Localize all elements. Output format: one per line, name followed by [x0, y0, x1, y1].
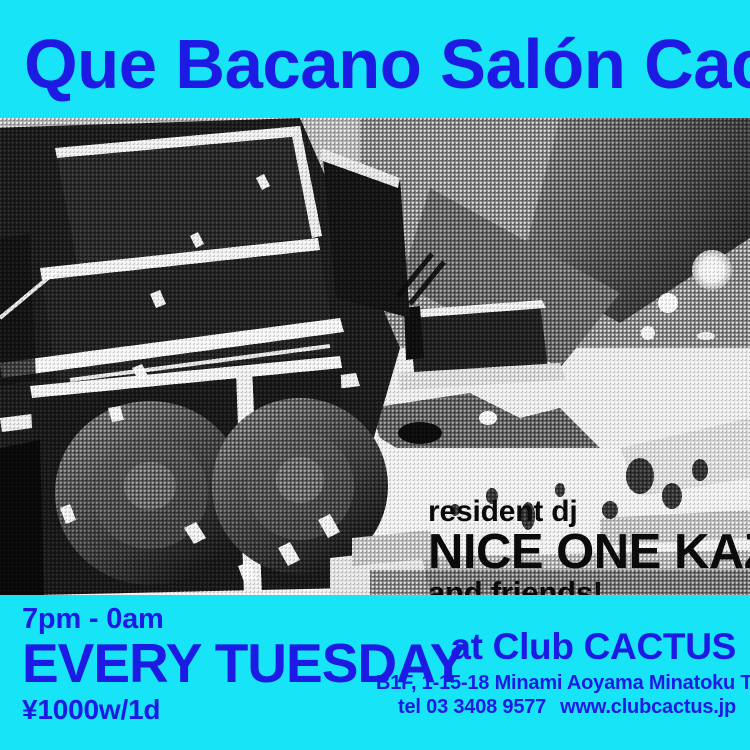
resident-dj-label: resident dj	[428, 496, 750, 528]
page-title: Que Bacano Salón Cactus	[24, 27, 719, 101]
venue-telephone: tel 03 3408 9577	[398, 696, 546, 718]
dj-name: NICE ONE KAZ	[428, 526, 750, 578]
dj-lineup-block: resident dj NICE ONE KAZ and friends!	[428, 496, 750, 595]
venue-name: at Club CACTUS	[376, 627, 736, 667]
event-day: EVERY TUESDAY	[22, 634, 422, 692]
info-band: 7pm - 0am EVERY TUESDAY ¥1000w/1d at Clu…	[0, 595, 750, 750]
venue-address: B1F, 1-15-18 Minami Aoyama Minatoku Toky…	[376, 671, 736, 695]
venue-contact: tel 03 3408 9577www.clubcactus.jp	[376, 695, 736, 719]
event-price: ¥1000w/1d	[22, 694, 422, 725]
title-band: Que Bacano Salón Cactus	[0, 0, 750, 118]
venue-website[interactable]: www.clubcactus.jp	[560, 696, 736, 718]
venue-block: at Club CACTUS B1F, 1-15-18 Minami Aoyam…	[376, 627, 736, 719]
flyer-photo: resident dj NICE ONE KAZ and friends!	[0, 118, 750, 595]
schedule-block: 7pm - 0am EVERY TUESDAY ¥1000w/1d	[22, 603, 422, 725]
event-flyer: Que Bacano Salón Cactus	[0, 0, 750, 750]
